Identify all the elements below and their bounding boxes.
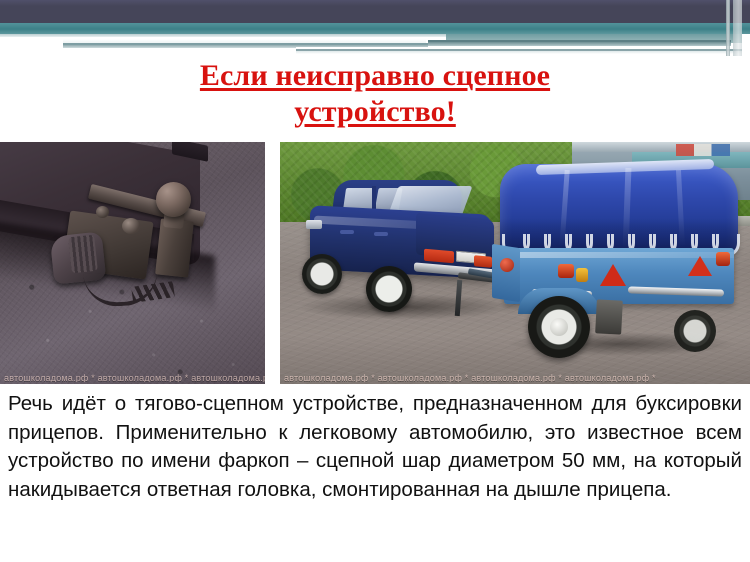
trailer-front-panel — [492, 244, 520, 302]
header-corner-notch — [742, 34, 750, 54]
car-rear-wheel — [366, 266, 412, 312]
slide-body-paragraph: Речь идёт о тягово-сцепном устройстве, п… — [8, 390, 742, 504]
header-dark-band — [0, 0, 750, 23]
trailer-wheel-hub — [550, 318, 568, 336]
trailer-round-reflector — [500, 258, 514, 272]
header-decoration — [0, 0, 750, 62]
trailer-side-lamp — [716, 252, 730, 266]
tow-ball — [156, 182, 191, 217]
towed-trailer — [492, 160, 744, 350]
header-teal-band — [0, 23, 750, 34]
car-tail-lamp-right — [474, 255, 492, 268]
header-vertical-stripe — [726, 0, 730, 56]
car-door-handle-front — [340, 230, 354, 234]
car-tail-lamp-left — [424, 249, 454, 264]
header-dark-band-sheen — [0, 0, 750, 6]
coupling-socket-ribs — [68, 235, 98, 274]
presentation-slide: Если неисправно сцепное устройство! авто… — [0, 0, 750, 562]
header-teal-band-left-edge — [0, 34, 446, 37]
watermark-left: автошколадома.рф * автошколадома.рф * ав… — [0, 368, 265, 382]
watermark-left-text: автошколадома.рф * автошколадома.рф * ав… — [0, 371, 265, 382]
trailer-wheel-far — [674, 310, 716, 352]
towbar-bolt-small — [96, 206, 109, 218]
header-rule-d — [428, 42, 731, 46]
car-door-handle-rear — [374, 232, 388, 236]
background-flag — [676, 144, 730, 156]
slide-title-line-1: Если неисправно сцепное — [0, 58, 750, 94]
watermark-right: автошколадома.рф * автошколадома.рф * ав… — [280, 368, 750, 382]
header-rule-g — [296, 51, 746, 54]
trailer-mudflap — [595, 299, 623, 334]
header-vertical-stripe-secondary — [733, 0, 742, 56]
trailer-indicator-lamp — [576, 268, 588, 282]
car-side-mirror — [306, 220, 322, 229]
photo-band: автошколадома.рф * автошколадома.рф * ав… — [0, 142, 750, 384]
trailer-tail-lamp-red — [558, 264, 574, 278]
slide-body-text: Речь идёт о тягово-сцепном устройстве, п… — [8, 390, 742, 504]
trailer-triangle-reflector-1 — [600, 264, 626, 286]
slide-title-line-2: устройство! — [0, 94, 750, 130]
slide-title: Если неисправно сцепное устройство! — [0, 58, 750, 130]
watermark-right-text: автошколадома.рф * автошколадома.рф * ав… — [280, 371, 656, 382]
trailer-triangle-reflector-2 — [688, 256, 712, 276]
photo-car-with-trailer: автошколадома.рф * автошколадома.рф * ав… — [280, 142, 750, 384]
photo-tow-hitch: автошколадома.рф * автошколадома.рф * ав… — [0, 142, 265, 384]
towing-car — [288, 180, 518, 320]
towbar-bolt-large — [122, 218, 140, 234]
car-front-wheel — [302, 254, 342, 294]
